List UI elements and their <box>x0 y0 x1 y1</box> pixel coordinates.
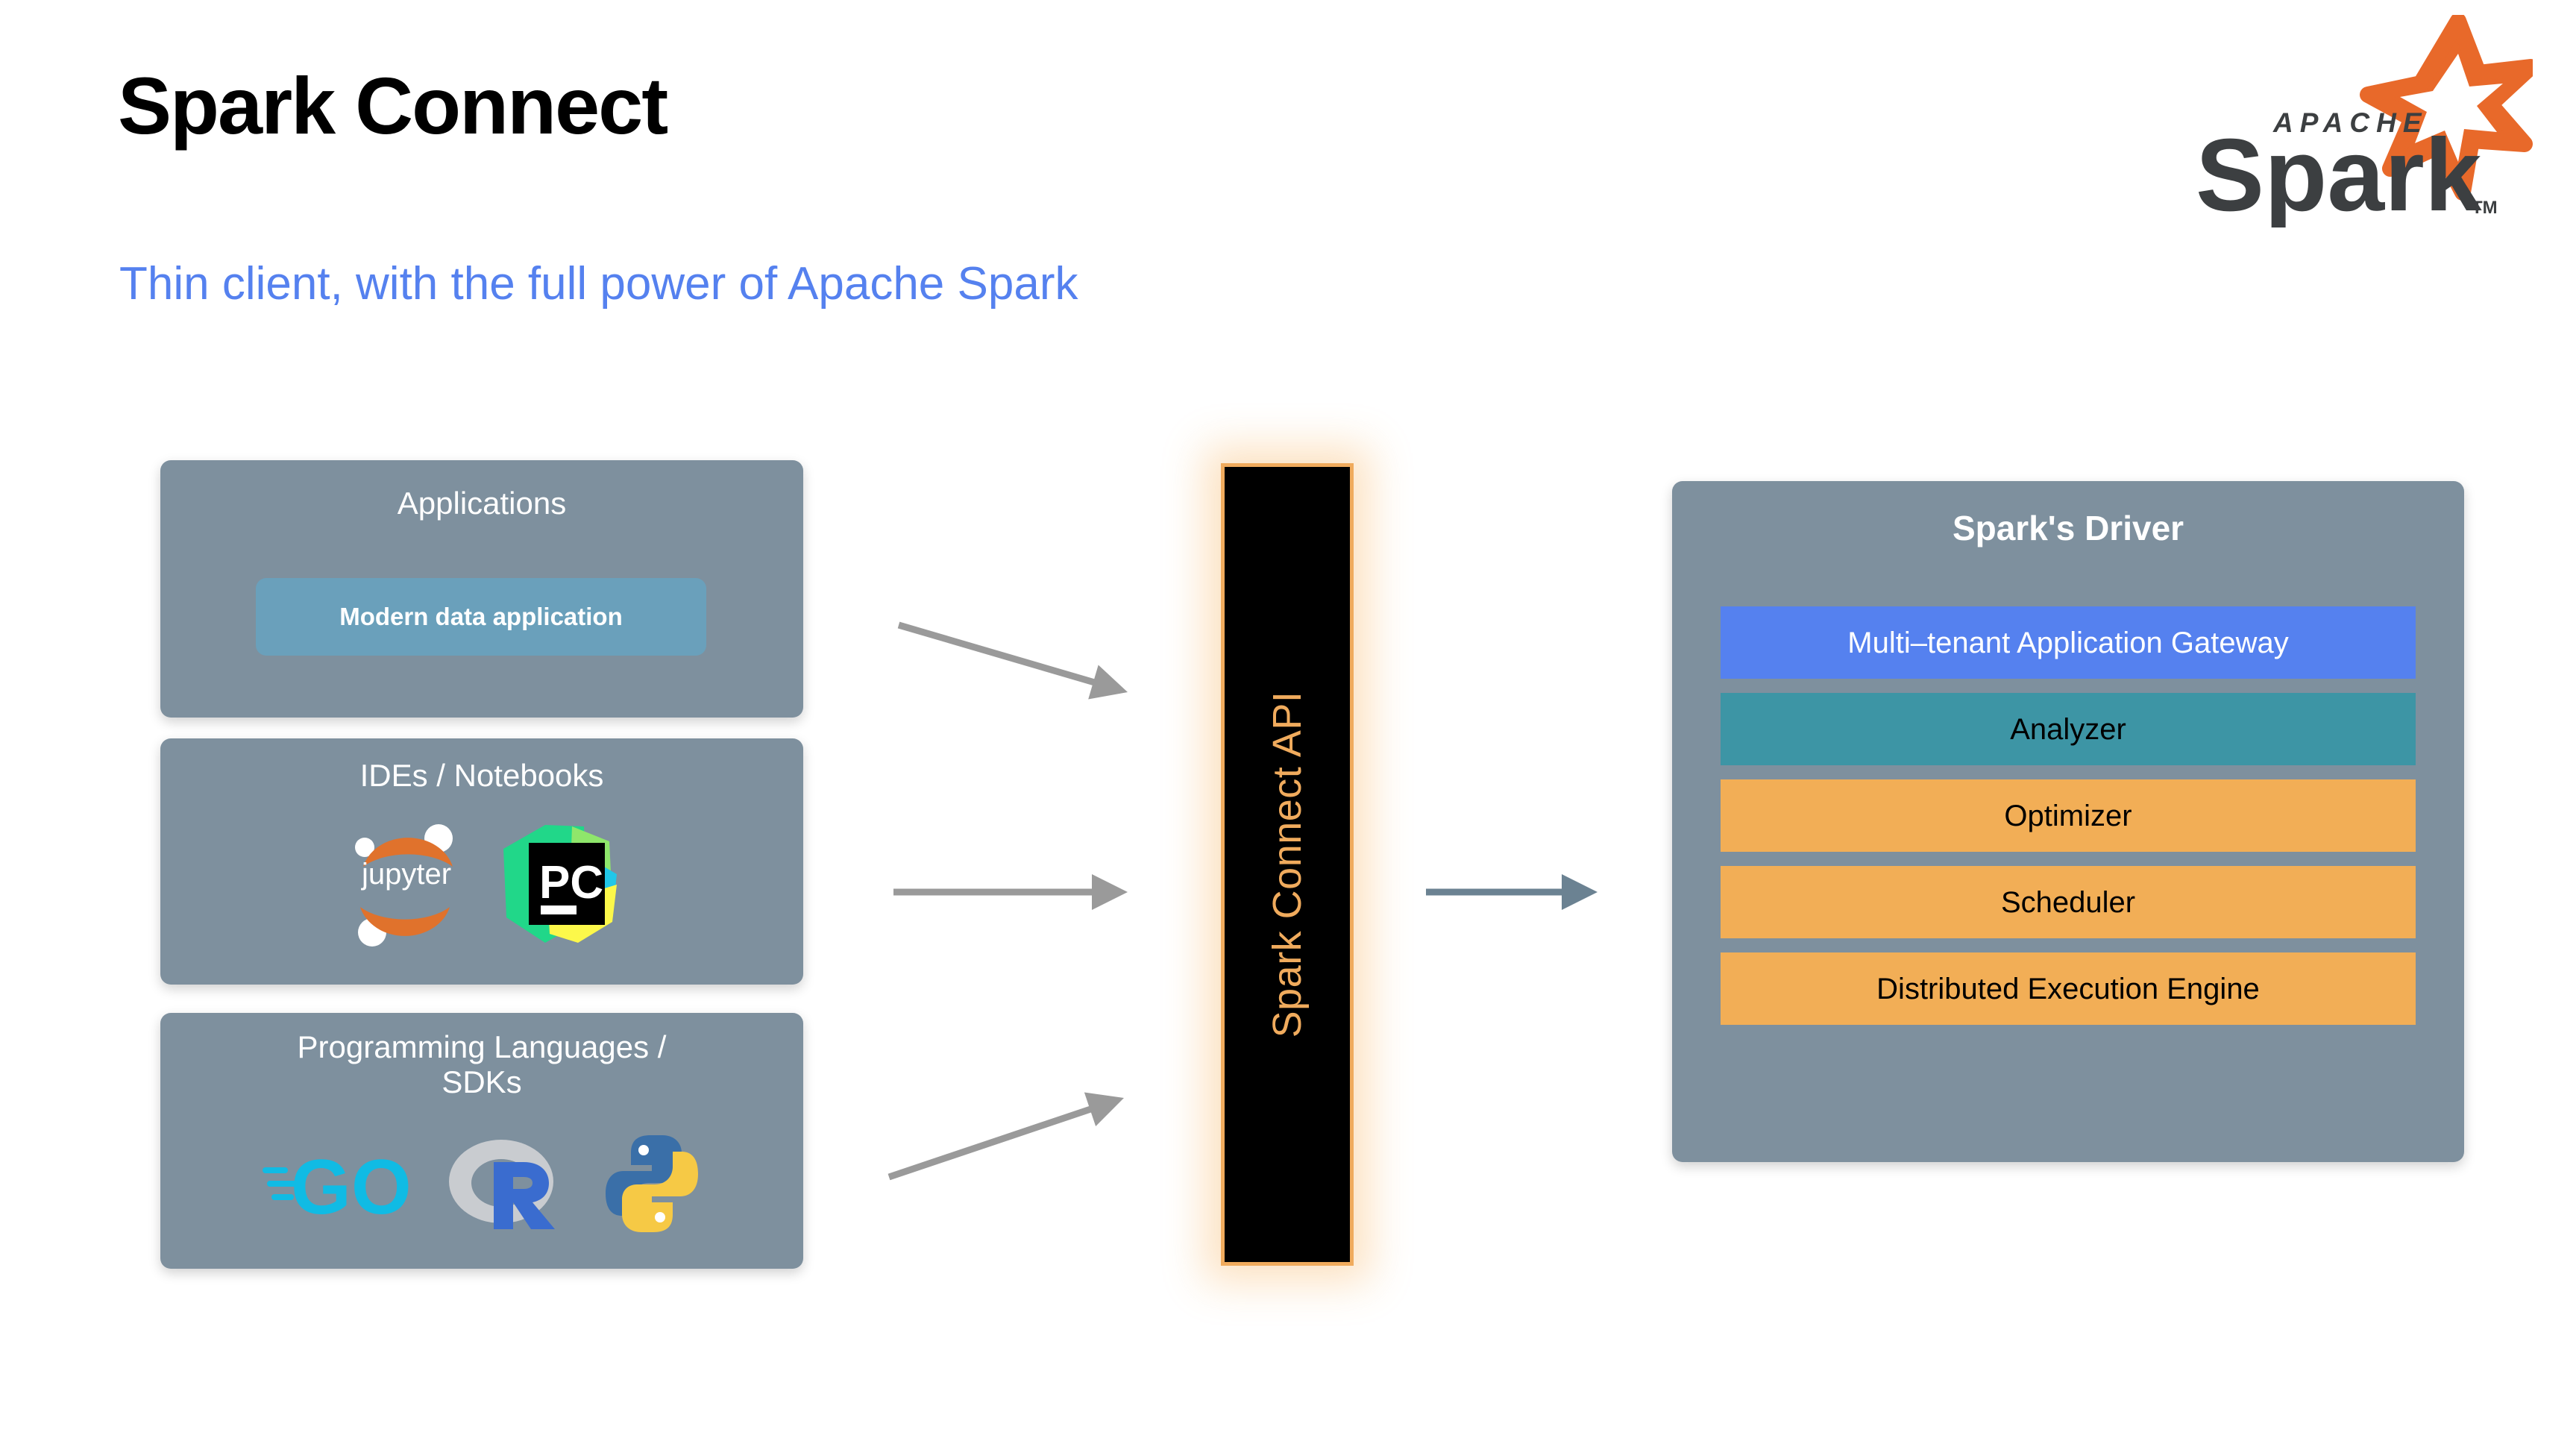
ide-logo-row: jupyter PC <box>160 820 803 949</box>
panel-programming-languages-title: Programming Languages / SDKs <box>160 1029 803 1099</box>
driver-component-2[interactable]: Optimizer <box>1721 779 2416 852</box>
apache-spark-logo: APACHE Spark TM <box>2160 15 2533 227</box>
spark-connect-api-label: Spark Connect API <box>1264 691 1310 1038</box>
driver-component-label: Multi–tenant Application Gateway <box>1847 628 2288 658</box>
driver-component-4[interactable]: Distributed Execution Engine <box>1721 952 2416 1025</box>
page-subtitle: Thin client, with the full power of Apac… <box>119 261 1078 307</box>
driver-component-0[interactable]: Multi–tenant Application Gateway <box>1721 606 2416 679</box>
spark-connect-api-bar[interactable]: Spark Connect API <box>1221 463 1354 1266</box>
languages-to-api <box>889 1093 1124 1177</box>
driver-component-1[interactable]: Analyzer <box>1721 693 2416 765</box>
api-to-driver <box>1426 874 1598 910</box>
driver-component-label: Distributed Execution Engine <box>1876 974 2260 1004</box>
python-icon <box>603 1134 701 1234</box>
driver-component-list: Multi–tenant Application GatewayAnalyzer… <box>1721 606 2416 1025</box>
logo-wordmark: Spark <box>2196 118 2482 227</box>
r-icon <box>447 1131 567 1237</box>
driver-component-label: Scheduler <box>2001 888 2135 917</box>
driver-component-label: Optimizer <box>2004 801 2132 831</box>
jupyter-wordmark: jupyter <box>344 859 469 889</box>
go-icon: GO <box>263 1142 412 1225</box>
modern-data-application-box[interactable]: Modern data application <box>256 578 706 656</box>
page-title: Spark Connect <box>118 66 667 146</box>
ides-to-api <box>893 874 1128 910</box>
panel-applications[interactable]: Applications Modern data application <box>160 460 803 718</box>
logo-trademark: TM <box>2472 198 2498 218</box>
driver-component-3[interactable]: Scheduler <box>1721 866 2416 938</box>
panel-sparks-driver-title: Spark's Driver <box>1672 509 2464 548</box>
language-logo-row: GO <box>160 1131 803 1237</box>
jupyter-icon: jupyter <box>344 820 469 949</box>
pycharm-icon: PC <box>500 822 620 947</box>
svg-text:PC: PC <box>539 857 603 908</box>
panel-programming-languages[interactable]: Programming Languages / SDKs GO <box>160 1013 803 1269</box>
panel-ides-notebooks[interactable]: IDEs / Notebooks jupyter PC <box>160 738 803 985</box>
applications-to-api <box>899 625 1128 700</box>
go-wordmark: GO <box>291 1144 412 1225</box>
panel-applications-title: Applications <box>160 486 803 521</box>
driver-component-label: Analyzer <box>2010 715 2126 744</box>
panel-sparks-driver[interactable]: Spark's Driver Multi–tenant Application … <box>1672 481 2464 1162</box>
panel-ides-notebooks-title: IDEs / Notebooks <box>160 758 803 793</box>
